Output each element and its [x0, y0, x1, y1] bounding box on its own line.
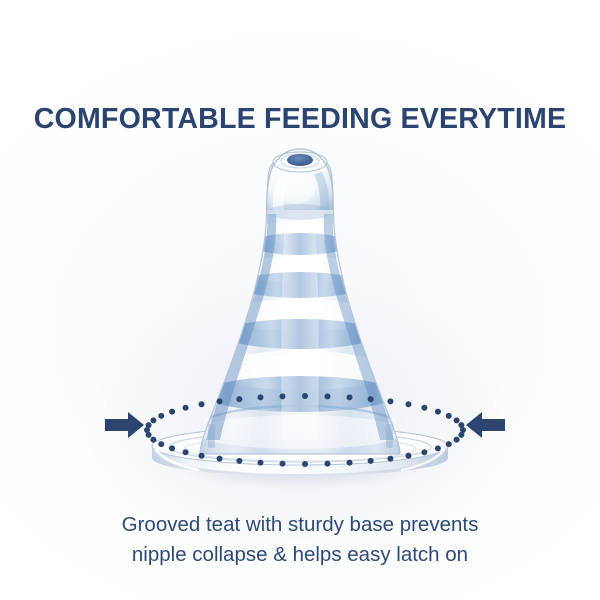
feeding-hole	[287, 154, 313, 166]
teat-grooves	[194, 200, 406, 449]
page-title: COMFORTABLE FEEDING EVERYTIME	[5, 102, 596, 136]
caption-line-2: nipple collapse & helps easy latch on	[0, 540, 600, 570]
caption-text: Grooved teat with sturdy base prevents n…	[0, 510, 600, 570]
product-illustration	[120, 140, 480, 500]
product-feature-image: COMFORTABLE FEEDING EVERYTIME	[0, 0, 600, 600]
caption-line-1: Grooved teat with sturdy base prevents	[0, 510, 600, 540]
teat-tip	[267, 149, 333, 220]
